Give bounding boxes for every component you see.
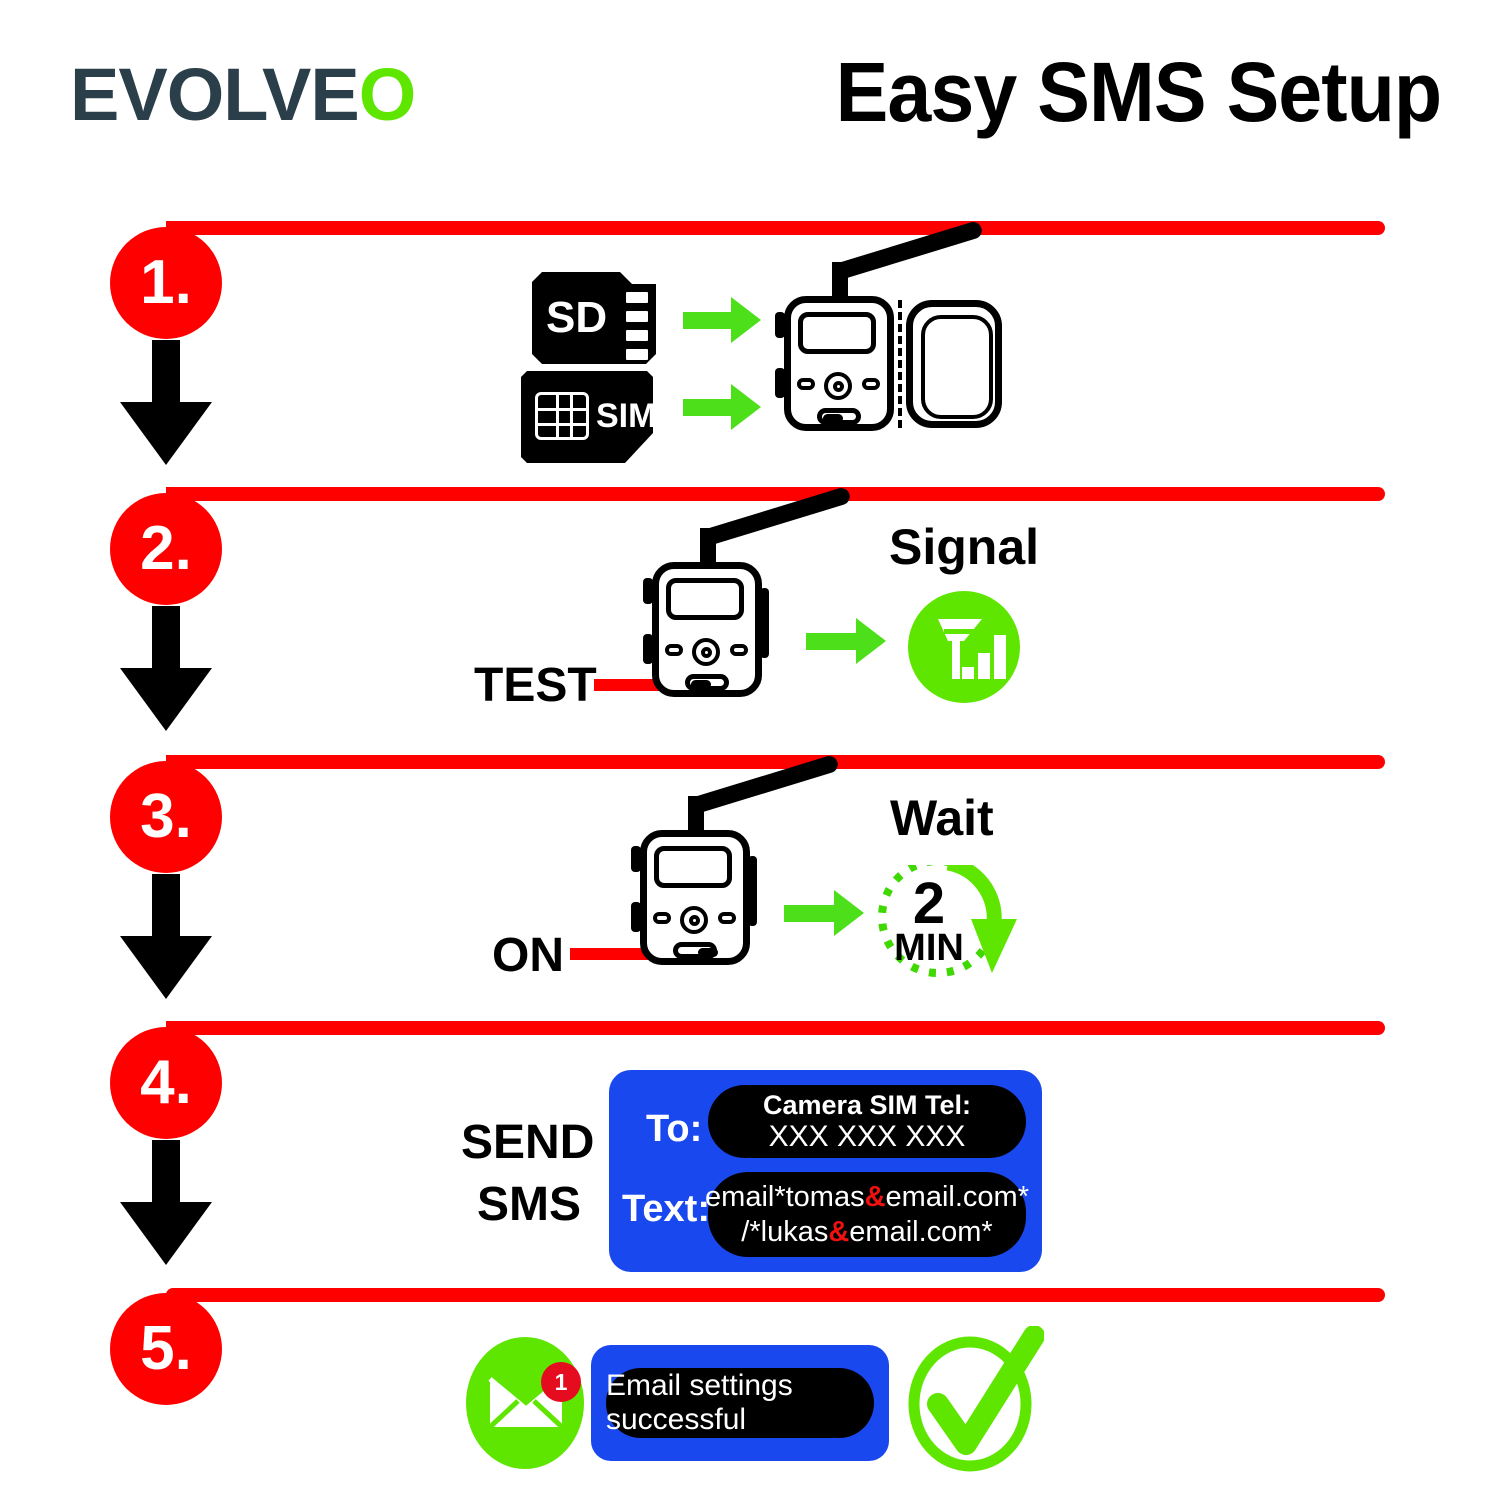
step-1-number: 1. <box>140 252 192 314</box>
step-1-rail <box>166 221 1385 235</box>
step-4-action-label-line1: SEND <box>461 1119 594 1167</box>
step-2-rail <box>166 487 1385 501</box>
camera-button-right <box>730 644 748 656</box>
envelope-icon <box>466 1337 584 1469</box>
sim-card-label: SIM <box>596 399 656 433</box>
camera-button-left <box>665 644 683 656</box>
sms-to-field[interactable]: Camera SIM Tel: XXX XXX XXX <box>708 1085 1026 1158</box>
email-received-icon <box>466 1337 584 1469</box>
camera-dpad <box>676 902 712 938</box>
toast-message-pill: Email settings successful <box>606 1368 874 1438</box>
logo-text-accent: O <box>359 53 416 136</box>
step-2-arrow-icon <box>806 618 892 664</box>
camera-button-right <box>718 912 736 924</box>
evolveo-logo: EVOLVEO <box>70 58 415 132</box>
sd-contact-pin <box>626 330 648 341</box>
sd-contact-pin <box>626 292 648 303</box>
step-3-badge: 3. <box>110 761 222 873</box>
camera-dpad <box>688 634 724 670</box>
sd-contact-pin <box>626 349 648 360</box>
step-2-badge: 2. <box>110 493 222 605</box>
camera-device-step2 <box>652 562 762 697</box>
step-1-down-arrow-icon <box>120 340 212 465</box>
step-4-rail <box>166 1021 1385 1035</box>
step-4-badge: 4. <box>110 1027 222 1139</box>
camera-hinge <box>898 300 902 428</box>
camera-device-step3 <box>640 830 750 965</box>
step-1-arrow-sd-icon <box>683 297 763 343</box>
camera-power-switch <box>685 674 729 691</box>
step-4-down-arrow-icon <box>120 1140 212 1265</box>
step-2-button-label: TEST <box>474 662 597 710</box>
timer-value: 2 <box>854 875 1004 933</box>
step-3-button-label: ON <box>492 932 564 980</box>
step-1-badge: 1. <box>110 227 222 339</box>
camera-button-left <box>653 912 671 924</box>
timer-unit: MIN <box>854 929 1004 967</box>
camera-device-step1 <box>784 296 894 431</box>
camera-power-switch <box>817 408 861 425</box>
sms-text-line2: /*lukas&email.com* <box>741 1215 992 1250</box>
camera-button-right <box>862 378 880 390</box>
step-2-number: 2. <box>140 518 192 580</box>
logo-text-main: EVOLVE <box>70 53 359 136</box>
step-4-action-label-line2: SMS <box>477 1181 581 1229</box>
camera-power-switch <box>673 942 717 959</box>
sms-text-label: Text: <box>622 1190 710 1228</box>
step-2-result-label: Signal <box>889 522 1039 572</box>
signal-bars-icon <box>908 591 1020 703</box>
camera-screen <box>654 846 732 888</box>
camera-screen <box>666 578 744 620</box>
camera-button-left <box>797 378 815 390</box>
sim-chip-icon <box>535 392 589 440</box>
sd-contact-pin <box>626 311 648 322</box>
email-unread-badge: 1 <box>541 1362 581 1402</box>
check-circle-icon <box>908 1326 1044 1478</box>
sms-text-field[interactable]: email*tomas&email.com* /*lukas&email.com… <box>708 1172 1026 1257</box>
toast-message: Email settings successful <box>606 1369 874 1437</box>
step-1-arrow-sim-icon <box>683 384 763 430</box>
step-4-number: 4. <box>140 1052 192 1114</box>
sms-to-title: Camera SIM Tel: <box>763 1090 971 1120</box>
page-title: Easy SMS Setup <box>835 48 1441 136</box>
camera-dpad <box>820 368 856 404</box>
step-5-badge: 5. <box>110 1293 222 1405</box>
infographic-page: EVOLVEO Easy SMS Setup 1. SD SIM <box>0 0 1501 1501</box>
timer-2min-icon: 2 MIN <box>876 851 1026 991</box>
camera-screen <box>798 312 876 354</box>
step-3-result-label: Wait <box>890 793 994 843</box>
step-2-down-arrow-icon <box>120 606 212 731</box>
sms-to-number: XXX XXX XXX <box>769 1120 966 1154</box>
step-5-number: 5. <box>140 1318 192 1380</box>
step-5-rail <box>166 1288 1385 1302</box>
signal-icon-circle <box>908 591 1020 703</box>
step-3-down-arrow-icon <box>120 874 212 999</box>
sms-to-label: To: <box>646 1110 702 1148</box>
sms-text-line1: email*tomas&email.com* <box>705 1180 1029 1215</box>
camera-cover-panel <box>906 300 1002 428</box>
success-check-icon <box>908 1326 1044 1478</box>
step-3-rail <box>166 755 1385 769</box>
sd-card-label: SD <box>546 296 607 340</box>
step-3-number: 3. <box>140 786 192 848</box>
